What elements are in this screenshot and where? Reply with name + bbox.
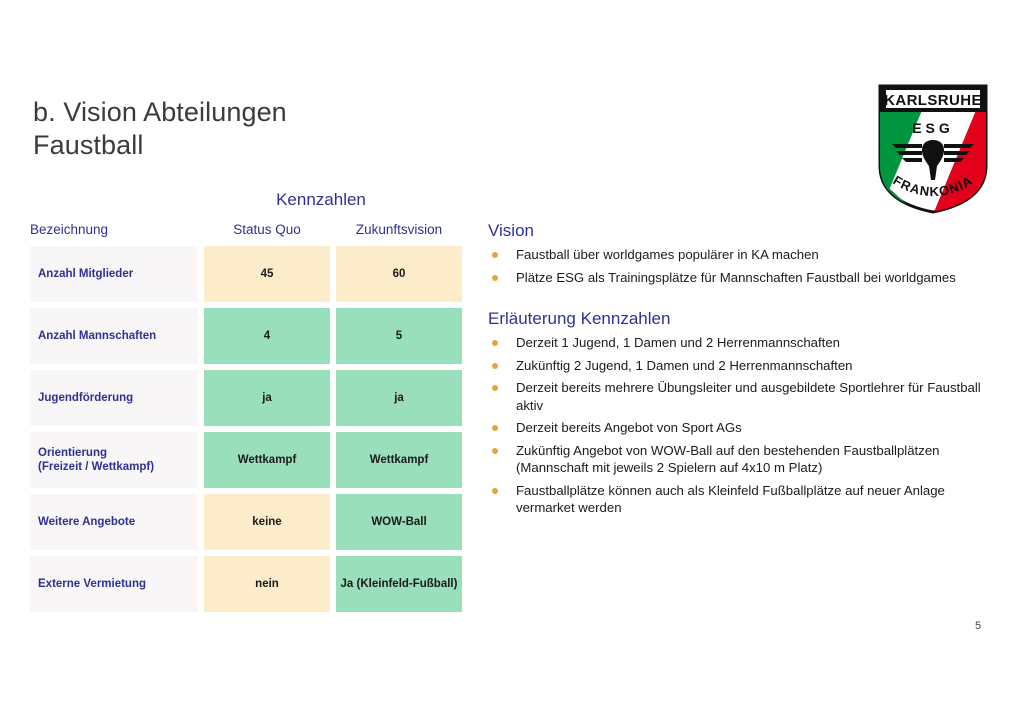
page-title-line-2: Faustball: [33, 129, 633, 162]
table-row: Anzahl Mitglieder 45 60: [30, 246, 462, 302]
column-header-bezeichnung: Bezeichnung: [30, 222, 198, 240]
row-label-line-1: Orientierung: [38, 447, 107, 459]
row-zukunftsvision-value: 60: [336, 246, 462, 302]
table-header-row: Bezeichnung Status Quo Zukunftsvision: [30, 222, 462, 240]
row-zukunftsvision-value: WOW-Ball: [336, 494, 462, 550]
table-row: Anzahl Mannschaften 4 5: [30, 308, 462, 364]
table-row: Jugendförderung ja ja: [30, 370, 462, 426]
logo-top-text: KARLSRUHE: [884, 92, 982, 109]
row-status-quo-value: 4: [204, 308, 330, 364]
page-number: 5: [975, 620, 981, 632]
row-zukunftsvision-value: Wettkampf: [336, 432, 462, 488]
list-item: Derzeit bereits Angebot von Sport AGs: [488, 419, 1004, 437]
vision-heading: Vision: [488, 220, 1004, 242]
row-zukunftsvision-value: Ja (Kleinfeld-Fußball): [336, 556, 462, 612]
list-item: Derzeit 1 Jugend, 1 Damen und 2 Herrenma…: [488, 334, 1004, 352]
row-label: Weitere Angebote: [30, 494, 198, 550]
row-status-quo-value: 45: [204, 246, 330, 302]
row-label: Anzahl Mannschaften: [30, 308, 198, 364]
table-caption: Kennzahlen: [180, 190, 462, 210]
column-header-status-quo: Status Quo: [204, 222, 330, 240]
list-item: Derzeit bereits mehrere Übungsleiter und…: [488, 379, 1004, 414]
table-row: Externe Vermietung nein Ja (Kleinfeld-Fu…: [30, 556, 462, 612]
erlaeuterung-bullet-list: Derzeit 1 Jugend, 1 Damen und 2 Herrenma…: [488, 334, 1004, 517]
row-zukunftsvision-value: ja: [336, 370, 462, 426]
logo-middle-text: ESG: [912, 120, 954, 136]
row-label: Anzahl Mitglieder: [30, 246, 198, 302]
table-row: Orientierung (Freizeit / Wettkampf) Wett…: [30, 432, 462, 488]
right-text-column: Vision Faustball über worldgames populär…: [488, 220, 1004, 522]
column-header-zukunftsvision: Zukunftsvision: [336, 222, 462, 240]
vision-bullet-list: Faustball über worldgames populärer in K…: [488, 246, 1004, 286]
row-label: Jugendförderung: [30, 370, 198, 426]
page-title-line-1: b. Vision Abteilungen: [33, 97, 287, 127]
list-item: Faustball über worldgames populärer in K…: [488, 246, 1004, 264]
row-status-quo-value: keine: [204, 494, 330, 550]
page-title: b. Vision Abteilungen Faustball: [33, 96, 633, 162]
list-item: Zukünftig Angebot von WOW-Ball auf den b…: [488, 442, 1004, 477]
kennzahlen-table: Bezeichnung Status Quo Zukunftsvision An…: [24, 216, 468, 618]
row-label: Externe Vermietung: [30, 556, 198, 612]
table-row: Weitere Angebote keine WOW-Ball: [30, 494, 462, 550]
erlaeuterung-heading: Erläuterung Kennzahlen: [488, 308, 1004, 330]
row-status-quo-value: ja: [204, 370, 330, 426]
club-crest-icon: KARLSRUHE ESG FRANKONIA: [872, 80, 994, 216]
row-label: Orientierung (Freizeit / Wettkampf): [30, 432, 198, 488]
row-zukunftsvision-value: 5: [336, 308, 462, 364]
slide-canvas: b. Vision Abteilungen Faustball: [0, 0, 1024, 724]
esg-frankonia-logo: KARLSRUHE ESG FRANKONIA: [872, 80, 994, 216]
row-label-line-2: (Freizeit / Wettkampf): [38, 461, 154, 473]
row-status-quo-value: nein: [204, 556, 330, 612]
list-item: Zukünftig 2 Jugend, 1 Damen und 2 Herren…: [488, 357, 1004, 375]
list-item: Plätze ESG als Trainingsplätze für Manns…: [488, 269, 1004, 287]
list-item: Faustballplätze können auch als Kleinfel…: [488, 482, 1004, 517]
kennzahlen-table-block: Kennzahlen Bezeichnung Status Quo Zukunf…: [30, 190, 462, 618]
row-status-quo-value: Wettkampf: [204, 432, 330, 488]
